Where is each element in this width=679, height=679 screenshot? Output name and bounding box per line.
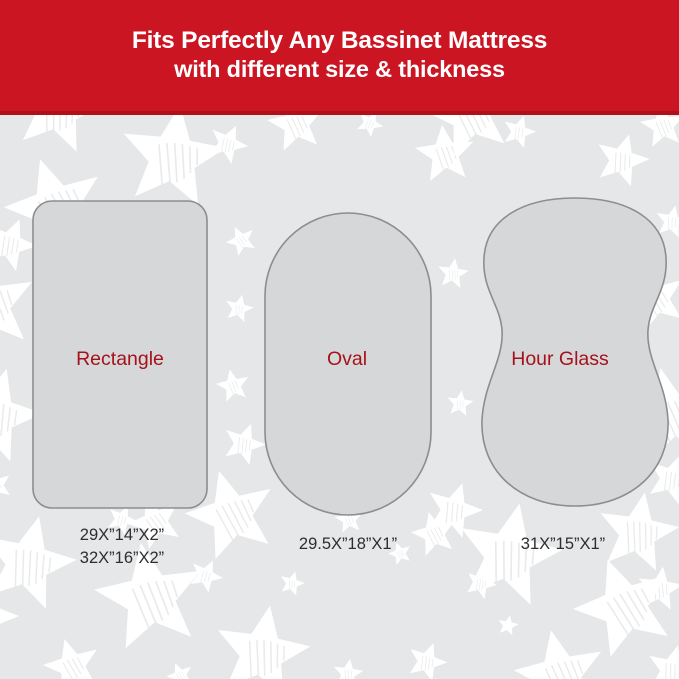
shape-label-rectangle: Rectangle: [32, 348, 208, 371]
dimensions-oval: 29.5X”18”X1”: [250, 533, 446, 556]
dimension-line: 31X”15”X1”: [470, 533, 656, 556]
header-text-group: Fits Perfectly Any Bassinet Mattress wit…: [0, 0, 679, 111]
dimension-line: 29X”14”X2”: [22, 524, 222, 547]
header-title-line-1: Fits Perfectly Any Bassinet Mattress: [132, 27, 547, 56]
shape-label-oval: Oval: [263, 348, 431, 371]
header-title-line-2: with different size & thickness: [174, 56, 505, 84]
dimensions-rectangle: 29X”14”X2” 32X”16”X2”: [22, 524, 222, 571]
bassinet-mattress-infographic: Fits Perfectly Any Bassinet Mattress wit…: [0, 0, 679, 679]
dimension-line: 32X”16”X2”: [22, 547, 222, 570]
header-underline: [0, 111, 679, 115]
dimension-line: 29.5X”18”X1”: [250, 533, 446, 556]
shape-label-hourglass: Hour Glass: [470, 348, 650, 371]
dimensions-hourglass: 31X”15”X1”: [470, 533, 656, 556]
